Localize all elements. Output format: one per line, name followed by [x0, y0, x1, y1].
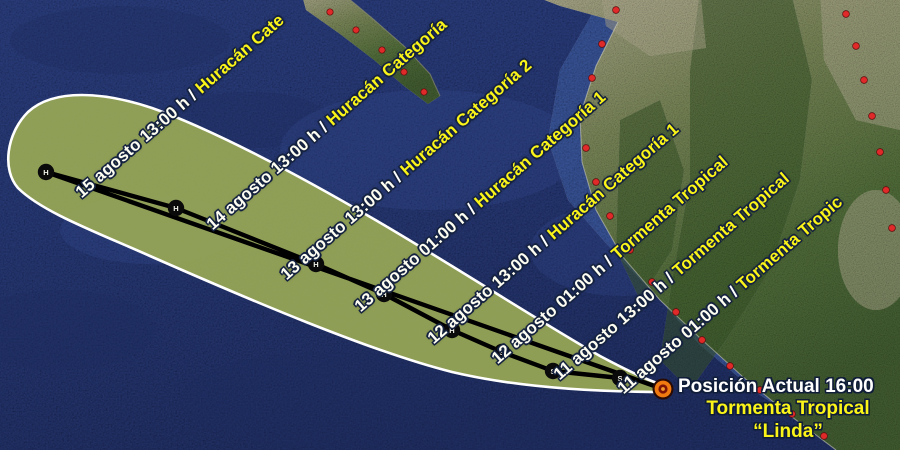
track-node-letter: H — [313, 260, 318, 269]
track-node-hurricane[interactable]: H — [38, 164, 54, 180]
hurricane-track-map: HHHHHSSS 15 agosto 13:00 h / Huracán Cat… — [0, 0, 900, 450]
track-node-letter: H — [449, 326, 454, 335]
track-node-hurricane[interactable]: H — [376, 286, 392, 302]
current-position-center-dot — [661, 387, 665, 391]
track-node-letter: H — [43, 168, 48, 177]
track-node-storm[interactable]: S — [494, 344, 510, 360]
track-node-letter: H — [381, 290, 386, 299]
track-node-letter: S — [550, 367, 555, 376]
track-node-storm[interactable]: S — [612, 370, 628, 386]
track-node-hurricane[interactable]: H — [168, 200, 184, 216]
forecast-track-line — [46, 172, 663, 389]
forecast-overlay: HHHHHSSS — [0, 0, 900, 450]
track-node-hurricane[interactable]: H — [308, 256, 324, 272]
current-position-marker[interactable] — [653, 379, 674, 400]
track-node-hurricane[interactable]: H — [444, 322, 460, 338]
track-node-letter: S — [617, 374, 622, 383]
uncertainty-cone — [8, 95, 666, 392]
track-node-letter: S — [499, 348, 504, 357]
track-node-letter: H — [173, 204, 178, 213]
track-node-storm[interactable]: S — [545, 363, 561, 379]
